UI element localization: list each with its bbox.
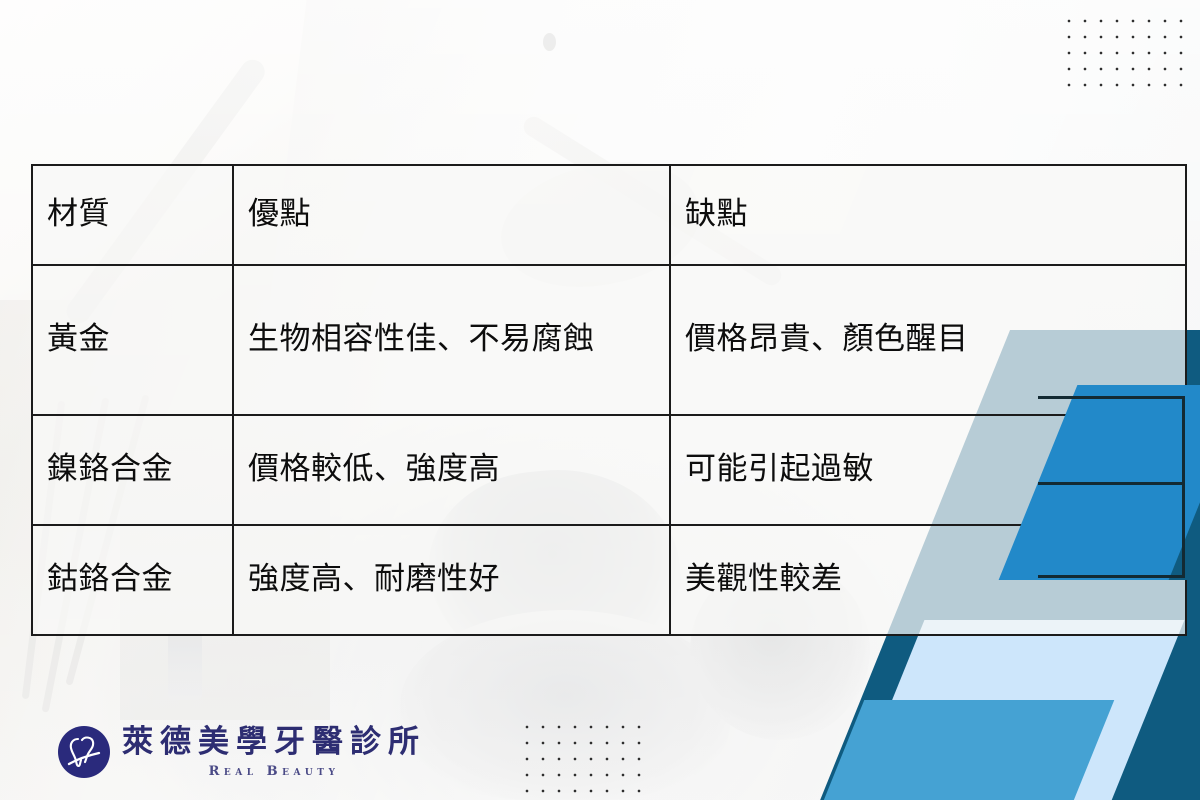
- cell-cons: 美觀性較差: [670, 525, 1186, 635]
- dot-grid-bottom-center: [516, 716, 652, 794]
- clinic-name-en: Real Beauty: [122, 765, 426, 778]
- clinic-logo: 萊德美學牙醫診所 Real Beauty: [58, 726, 426, 778]
- table-row: 鈷鉻合金 強度高、耐磨性好 美觀性較差: [32, 525, 1186, 635]
- cell-cons: 可能引起過敏: [670, 415, 1186, 525]
- cell-pros: 價格較低、強度高: [233, 415, 670, 525]
- cell-pros: 強度高、耐磨性好: [233, 525, 670, 635]
- cell-material: 鈷鉻合金: [32, 525, 233, 635]
- cell-cons: 價格昂貴、顏色醒目: [670, 265, 1186, 415]
- cell-material: 黃金: [32, 265, 233, 415]
- slide-canvas: 材質 優點 缺點 黃金 生物相容性佳、不易腐蝕 價格昂貴、顏色醒目 鎳鉻合金 價…: [0, 0, 1200, 800]
- table-row: 黃金 生物相容性佳、不易腐蝕 價格昂貴、顏色醒目: [32, 265, 1186, 415]
- cell-material: 鎳鉻合金: [32, 415, 233, 525]
- table-header-row: 材質 優點 缺點: [32, 165, 1186, 265]
- cell-pros: 生物相容性佳、不易腐蝕: [233, 265, 670, 415]
- table-row: 鎳鉻合金 價格較低、強度高 可能引起過敏: [32, 415, 1186, 525]
- header-pros: 優點: [233, 165, 670, 265]
- dot-grid-top-right: [1058, 10, 1194, 88]
- tooth-monogram-icon: [58, 726, 110, 778]
- header-material: 材質: [32, 165, 233, 265]
- material-comparison-table: 材質 優點 缺點 黃金 生物相容性佳、不易腐蝕 價格昂貴、顏色醒目 鎳鉻合金 價…: [31, 164, 1185, 578]
- clinic-name-cn: 萊德美學牙醫診所: [122, 727, 426, 758]
- parallelogram-mid-blue: [812, 700, 1115, 800]
- header-cons: 缺點: [670, 165, 1186, 265]
